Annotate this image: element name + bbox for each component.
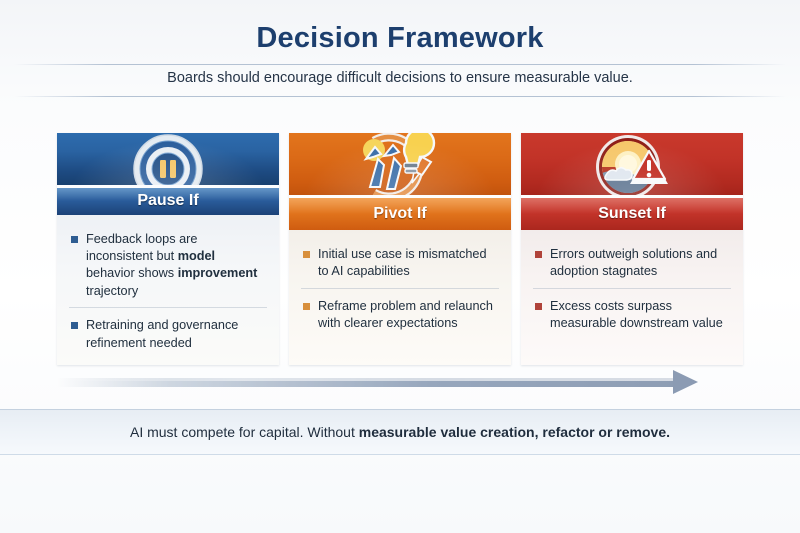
slide-canvas: Decision Framework Boards should encoura… [0,0,800,533]
list-item: Retraining and governance refinement nee… [69,307,267,359]
bullet-square-icon [303,251,310,258]
body-pause: Feedback loops are inconsistent but mode… [57,215,279,365]
heading-pause: Pause If [57,188,279,215]
arrow-highlight [57,378,677,381]
list-item: Excess costs surpass measurable downstre… [533,288,731,340]
bullet-square-icon [535,303,542,310]
arrow-head-icon [673,370,698,394]
footer-banner: AI must compete for capital. Without mea… [0,409,800,455]
bullet-list-pause: Feedback loops are inconsistent but mode… [69,226,267,359]
list-item: Reframe problem and relaunch with cleare… [301,288,499,340]
list-item: Feedback loops are inconsistent but mode… [69,226,267,308]
list-item: Errors outweigh solutions and adoption s… [533,241,731,288]
heading-sunset: Sunset If [521,198,743,230]
columns-container: Pause If Feedback loops are inconsistent… [57,133,743,365]
bullet-list-pivot: Initial use case is mismatched to AI cap… [301,241,499,340]
bullet-square-icon [71,236,78,243]
footer-text: AI must compete for capital. Without mea… [130,424,670,440]
bullet-list-sunset: Errors outweigh solutions and adoption s… [533,241,731,340]
banner-pause [57,133,279,185]
column-sunset[interactable]: Sunset If Errors outweigh solutions and … [521,133,743,365]
body-sunset: Errors outweigh solutions and adoption s… [521,230,743,365]
list-item: Initial use case is mismatched to AI cap… [301,241,499,288]
body-pivot: Initial use case is mismatched to AI cap… [289,230,511,365]
bullet-square-icon [303,303,310,310]
bullet-square-icon [71,322,78,329]
heading-pivot: Pivot If [289,198,511,230]
banner-pivot [289,133,511,195]
page-subtitle: Boards should encourage difficult decisi… [0,70,800,86]
title-divider-bottom [14,96,786,97]
banner-sunset [521,133,743,195]
page-title: Decision Framework [0,22,800,55]
column-pivot[interactable]: Pivot If Initial use case is mismatched … [289,133,511,365]
progression-arrow [57,370,743,394]
column-pause[interactable]: Pause If Feedback loops are inconsistent… [57,133,279,365]
bullet-square-icon [535,251,542,258]
title-divider-top [14,64,786,65]
